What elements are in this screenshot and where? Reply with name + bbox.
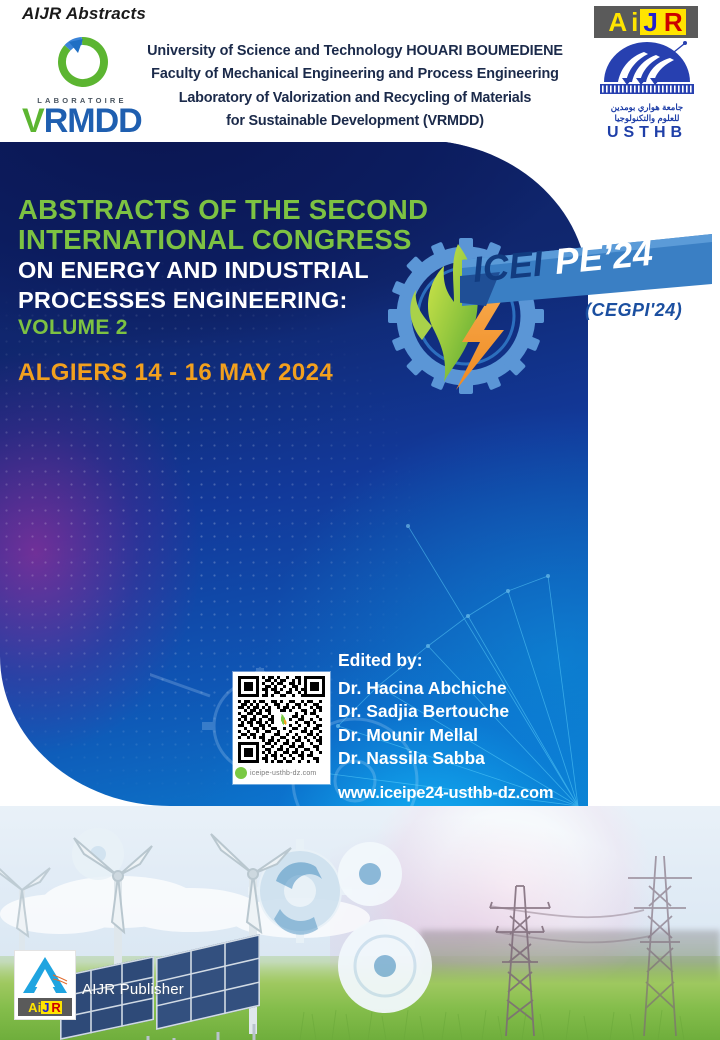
aijr-logo: AiJR (594, 6, 698, 38)
publisher-letter-j: J (41, 1001, 50, 1014)
publisher-letter-a: A (28, 1001, 37, 1014)
series-label: AIJR Abstracts (22, 4, 146, 24)
publisher-name: AIJR Publisher (82, 981, 184, 998)
aijr-letter-a: A (606, 9, 629, 35)
institution-line-4: for Sustainable Development (VRMDD) (120, 110, 590, 133)
edited-by-label: Edited by: (338, 650, 553, 671)
publisher-letter-r: R (50, 1001, 61, 1014)
usthb-arabic-line-2: للعلوم والتكنولوجيا (588, 113, 706, 124)
subtitle-line-2: PROCESSES ENGINEERING: (18, 287, 448, 314)
usthb-arabic-line-1: جامعة هواري بومدين (588, 102, 706, 113)
institution-line-1: University of Science and Technology HOU… (120, 40, 590, 63)
editor-name-3: Dr. Mounir Mellal (338, 724, 553, 747)
publisher-logo: AiJR (14, 950, 76, 1020)
editor-name-4: Dr. Nassila Sabba (338, 747, 553, 770)
book-cover: AIJR Abstracts LABORATOIRE VRMDD Univers… (0, 0, 720, 1040)
institution-line-2: Faculty of Mechanical Engineering and Pr… (120, 63, 590, 86)
date-place-label: ALGIERS 14 - 16 MAY 2024 (18, 359, 448, 387)
qr-code-block[interactable]: iceipe-usthb-dz.com (233, 672, 330, 784)
cover-header: AIJR Abstracts LABORATOIRE VRMDD Univers… (0, 0, 720, 142)
editor-name-2: Dr. Sadjia Bertouche (338, 700, 553, 723)
aijr-letter-r: R (661, 9, 686, 35)
vrmdd-acronym-v: V (22, 102, 44, 140)
grass-blades (300, 1010, 684, 1040)
institution-line-3: Laboratory of Valorization and Recycling… (120, 87, 590, 110)
qr-caption-row: iceipe-usthb-dz.com (235, 767, 328, 779)
aijr-arch-icon (15, 953, 75, 997)
congress-logo-ribbon: ICEI PE’24 (460, 232, 718, 310)
subtitle-line-1: ON ENERGY AND INDUSTRIAL (18, 257, 448, 284)
recycle-arrow-circle-icon (56, 36, 108, 88)
footer-illustration (0, 806, 720, 1040)
aijr-letter-j: J (640, 9, 660, 35)
usthb-logo: جامعة هواري بومدين للعلوم والتكنولوجيا U… (588, 40, 706, 140)
editors-block: Edited by: Dr. Hacina Abchiche Dr. Sadji… (338, 650, 553, 803)
usthb-acronym: USTHB (588, 124, 706, 142)
qr-caption: iceipe-usthb-dz.com (250, 770, 316, 777)
usthb-dome-icon (588, 38, 706, 98)
power-pylons (490, 856, 692, 1036)
link-dot-icon (235, 767, 247, 779)
qr-code-icon[interactable] (238, 676, 325, 763)
title-line-1: ABSTRACTS OF THE SECOND (18, 195, 448, 225)
institution-block: University of Science and Technology HOU… (120, 40, 590, 133)
volume-label: VOLUME 2 (18, 316, 448, 340)
publisher-aijr-wordmark: AiJR (18, 998, 72, 1016)
footer-scene: AiJR AIJR Publisher (0, 806, 720, 1040)
title-line-2: INTERNATIONAL CONGRESS (18, 225, 448, 255)
congress-logo-dark: ICEI (471, 242, 546, 290)
editor-name-1: Dr. Hacina Abchiche (338, 677, 553, 700)
congress-logo-alt: (CEGPI'24) (585, 300, 682, 321)
cover-title-block: ABSTRACTS OF THE SECOND INTERNATIONAL CO… (18, 195, 448, 387)
congress-website[interactable]: www.iceipe24-usthb-dz.com (338, 784, 553, 803)
aijr-letter-i: i (629, 9, 640, 35)
